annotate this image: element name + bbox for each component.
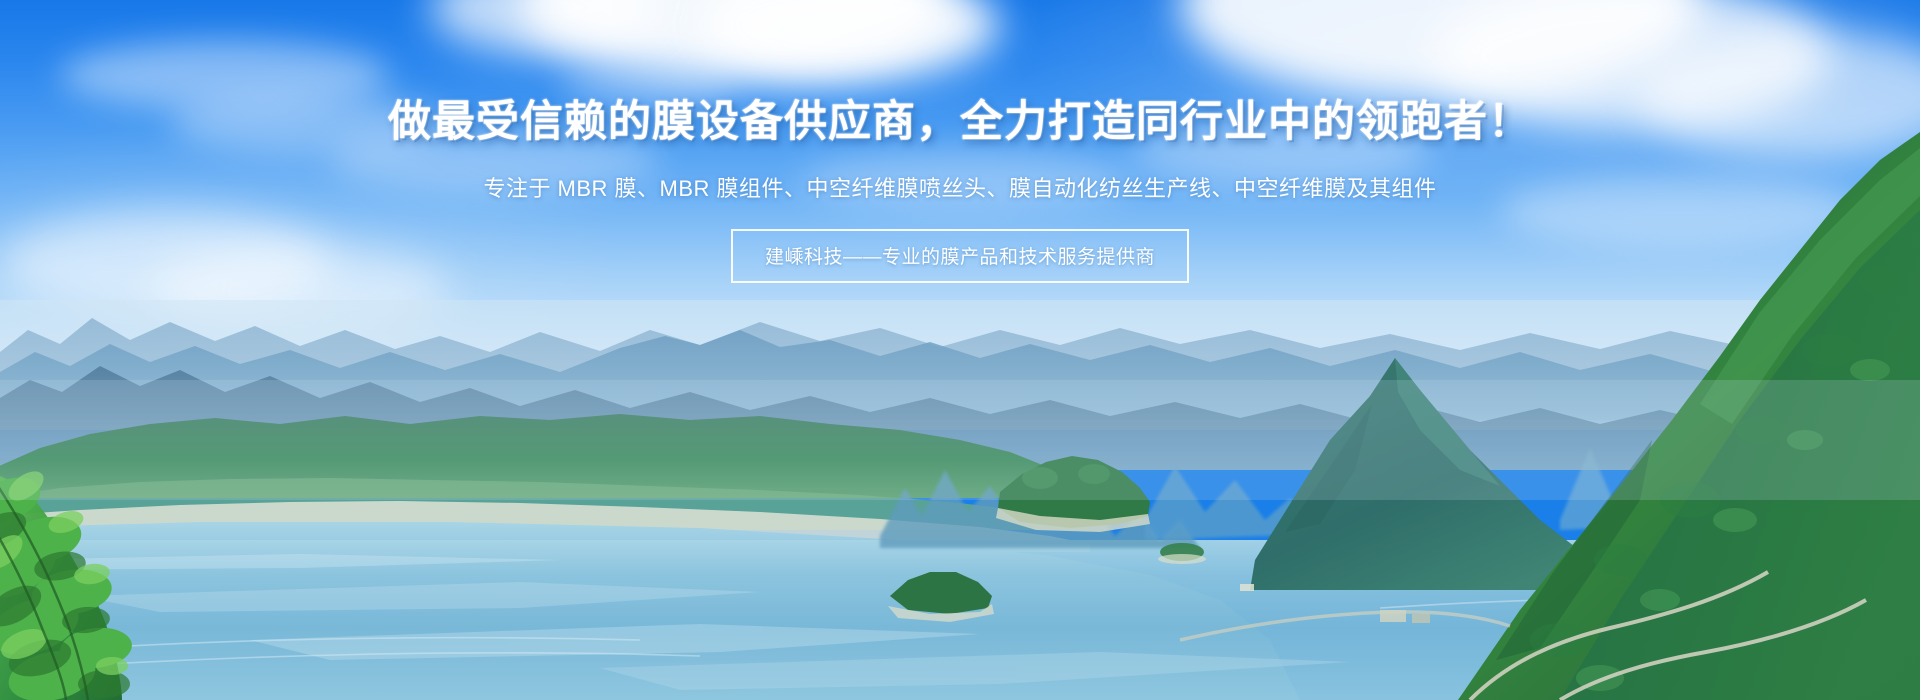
landscape-layer (0, 0, 1920, 700)
hero-banner: 做最受信赖的膜设备供应商，全力打造同行业中的领跑者！ 专注于 MBR 膜、MBR… (0, 0, 1920, 700)
